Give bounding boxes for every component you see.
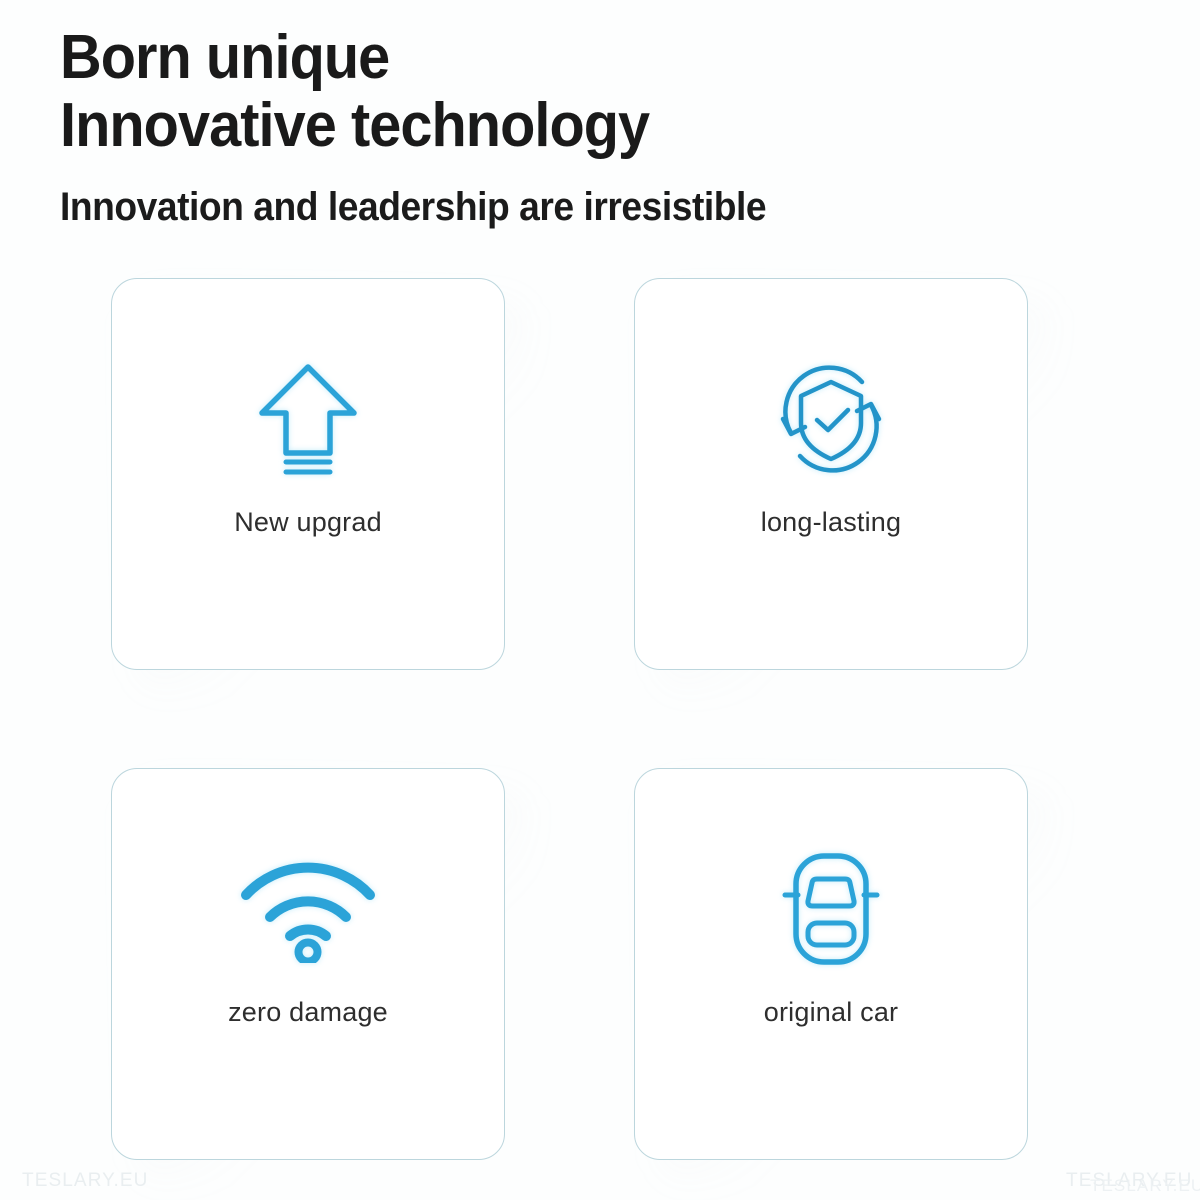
shield-check-refresh-icon xyxy=(756,355,906,483)
feature-card-original-car[interactable]: original car xyxy=(634,768,1028,1160)
feature-card-label: long-lasting xyxy=(761,507,902,538)
feature-card-label: New upgrad xyxy=(234,507,382,538)
heading-block: Born unique Innovative technology Innova… xyxy=(60,24,1060,230)
feature-card-label: original car xyxy=(764,997,898,1028)
upload-arrow-icon xyxy=(233,355,383,483)
watermark-bottom-right-secondary: TESLARY.EU xyxy=(1090,1176,1200,1196)
feature-card-zero-damage[interactable]: zero damage xyxy=(111,768,505,1160)
page-title-line-1: Born unique xyxy=(60,24,990,92)
car-top-view-icon xyxy=(756,845,906,973)
feature-card-label: zero damage xyxy=(228,997,388,1028)
page-title-line-2: Innovative technology xyxy=(60,92,990,160)
feature-card-new-upgrad[interactable]: New upgrad xyxy=(111,278,505,670)
promo-feature-page: Born unique Innovative technology Innova… xyxy=(0,0,1200,1200)
watermark-bottom-left: TESLARY.EU xyxy=(22,1170,148,1192)
feature-cards-grid: New upgrad xyxy=(111,278,1031,1164)
feature-card-long-lasting[interactable]: long-lasting xyxy=(634,278,1028,670)
page-subtitle: Innovation and leadership are irresistib… xyxy=(60,184,990,230)
wifi-signal-icon xyxy=(233,845,383,973)
